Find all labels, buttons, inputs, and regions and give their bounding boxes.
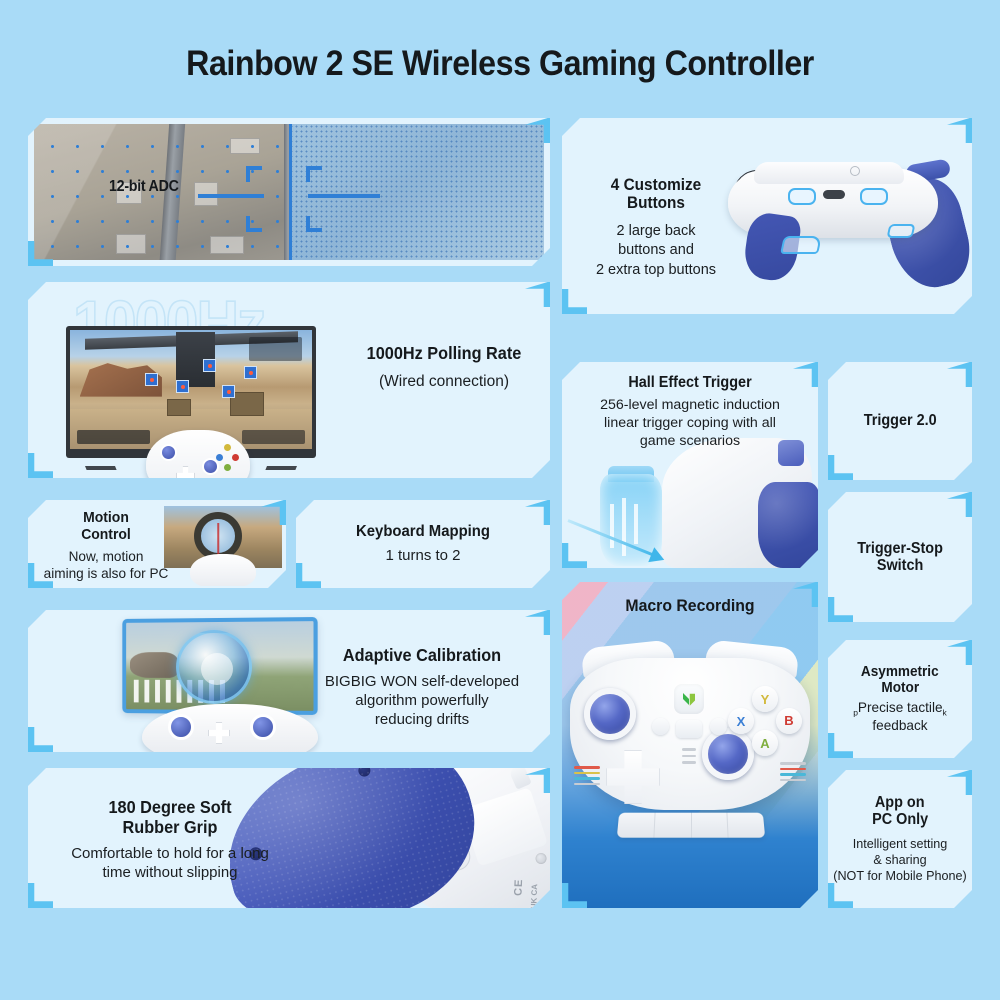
app-body-line3: (NOT for Mobile Phone): [833, 868, 966, 884]
controller-front-image: Y X B A: [570, 644, 810, 830]
trigger20-heading: Trigger 2.0: [864, 412, 937, 429]
app-body-line2: & sharing: [873, 852, 926, 868]
panel-adaptive-calibration: Adaptive Calibration BIGBIG WON self-dev…: [28, 610, 550, 752]
adaptive-heading: Adaptive Calibration: [310, 646, 533, 666]
hall-body-line3: game scenarios: [566, 433, 814, 450]
panel-customize-buttons: 4 Customize Buttons 2 large back buttons…: [562, 118, 972, 314]
keyboard-heading: Keyboard Mapping: [356, 523, 490, 541]
motion-heading-line2: Control: [37, 527, 175, 544]
customize-body-line1: 2 large back: [576, 223, 736, 240]
panel-keyboard-mapping: Keyboard Mapping 1 turns to 2: [296, 500, 550, 588]
hall-body-line1: 256-level magnetic induction: [566, 397, 814, 414]
panel-12bit-adc: 12-bit ADC: [28, 118, 550, 266]
app-heading-line1: App on: [875, 794, 925, 811]
polling-heading: 1000Hz Polling Rate: [336, 344, 550, 364]
app-body-line1: Intelligent setting: [853, 836, 948, 852]
app-heading-line2: PC Only: [872, 811, 928, 828]
grip-body-line2: time without slipping: [34, 864, 306, 882]
adaptive-body-line2: algorithm powerfully: [302, 692, 542, 710]
face-button-b[interactable]: B: [776, 708, 802, 734]
motion-heading-line1: Motion: [37, 510, 175, 527]
grip-heading-line1: 180 Degree Soft: [44, 798, 297, 818]
trigger-stop-heading-line2: Switch: [857, 557, 943, 574]
panel-macro-recording: Macro Recording Y X B A: [562, 582, 818, 908]
motion-body-line2: aiming is also for PC: [32, 566, 180, 582]
adaptive-body-line3: reducing drifts: [302, 711, 542, 729]
ce-mark: CE: [512, 879, 525, 897]
motor-sub-post: k: [943, 708, 947, 718]
panel-rubber-grip: CE UK CA 180 Degree Soft Rubber Grip Com…: [28, 768, 550, 908]
motor-heading-line2: Motor: [881, 680, 919, 696]
panel-app-pc-only: App on PC Only Intelligent setting & sha…: [828, 770, 972, 908]
brand-logo-icon: [674, 684, 704, 714]
trigger-mechanism-image: [562, 438, 818, 568]
panel-motion-control: Motion Control Now, motion aiming is als…: [28, 500, 286, 588]
hall-heading: Hall Effect Trigger: [575, 374, 806, 391]
motion-control-image: [164, 506, 282, 586]
motor-body-main: Precise tactile: [858, 700, 943, 715]
motor-body-line1: pPrecise tactilek: [853, 700, 947, 718]
grip-body-line1: Comfortable to hold for a long: [34, 845, 306, 863]
customize-body-line3: 2 extra top buttons: [576, 262, 736, 279]
page-title: Rainbow 2 SE Wireless Gaming Controller: [40, 0, 960, 84]
keyboard-body: 1 turns to 2: [385, 547, 460, 565]
hall-body-line2: linear trigger coping with all: [566, 415, 814, 432]
polling-body: (Wired connection): [328, 373, 550, 392]
motion-body-line1: Now, motion: [32, 549, 180, 565]
adaptive-body-line1: BIGBIG WON self-developed: [302, 673, 542, 691]
ukca-mark: UK CA: [530, 884, 539, 908]
customize-heading-line2: Buttons: [582, 194, 731, 212]
panel-trigger-20: Trigger 2.0: [828, 362, 972, 480]
customize-heading-line1: 4 Customize: [582, 176, 731, 194]
grip-heading-line2: Rubber Grip: [44, 818, 297, 838]
controller-rear-image: [710, 140, 972, 308]
face-button-x[interactable]: X: [728, 708, 754, 734]
panel-polling-rate: 1000Hz: [28, 282, 550, 478]
face-button-y[interactable]: Y: [752, 686, 778, 712]
mini-controller-image: [146, 430, 250, 478]
motor-heading-line1: Asymmetric: [861, 664, 939, 680]
infographic-board: Rainbow 2 SE Wireless Gaming Controller …: [0, 0, 1000, 1000]
face-button-a[interactable]: A: [752, 730, 778, 756]
motor-body-line2: feedback: [872, 718, 927, 734]
adc-label: 12-bit ADC: [109, 178, 179, 196]
customize-body-line2: buttons and: [576, 242, 736, 259]
macro-heading: Macro Recording: [571, 596, 809, 615]
panel-hall-effect-trigger: Hall Effect Trigger 256-level magnetic i…: [562, 362, 818, 568]
trigger-stop-heading-line1: Trigger-Stop: [857, 540, 943, 557]
panel-asymmetric-motor: Asymmetric Motor pPrecise tactilek feedb…: [828, 640, 972, 758]
panel-trigger-stop-switch: Trigger-Stop Switch: [828, 492, 972, 622]
